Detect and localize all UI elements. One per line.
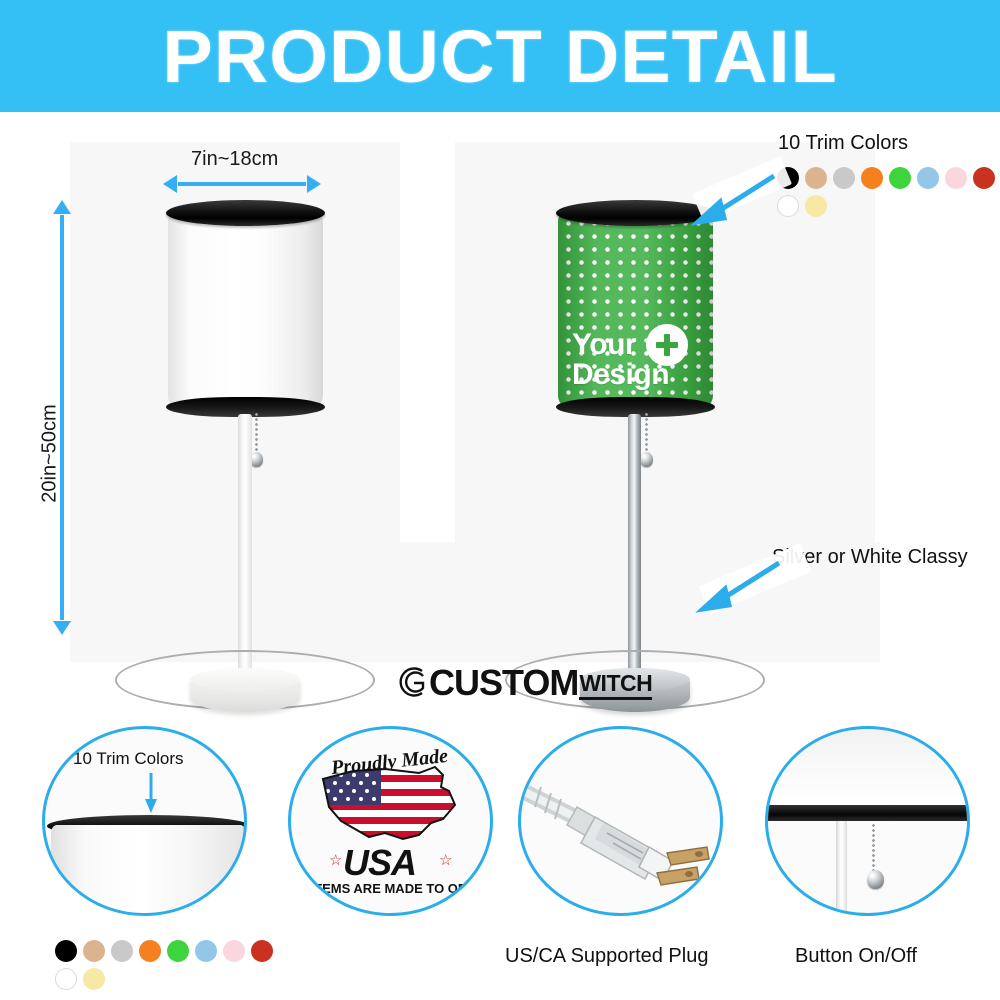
trim-color-swatch-light-blue[interactable] bbox=[917, 167, 939, 189]
bottom-trim-color-swatch-white[interactable] bbox=[55, 968, 77, 990]
usa-big-text: USA bbox=[343, 842, 416, 884]
feature-switch-shade bbox=[765, 729, 970, 807]
feature-trim-colors: 10 Trim Colors bbox=[42, 726, 247, 916]
feature-trim-colors-down-arrow-icon bbox=[143, 773, 159, 818]
product-stage: 7in~18cm 20in~50cm bbox=[0, 112, 1000, 712]
bottom-trim-color-swatch-orange[interactable] bbox=[139, 940, 161, 962]
feature-switch-pull-chain[interactable] bbox=[872, 823, 875, 873]
brand-name-sub: WITCH bbox=[579, 672, 652, 700]
add-design-plus-icon[interactable] bbox=[646, 324, 688, 366]
trim-colors-title: 10 Trim Colors bbox=[778, 132, 908, 155]
feature-switch-chain-ball[interactable] bbox=[867, 870, 884, 889]
feature-plug-caption: US/CA Supported Plug bbox=[505, 945, 708, 968]
us-plug-icon bbox=[521, 729, 723, 916]
bottom-trim-color-swatch-light-blue[interactable] bbox=[195, 940, 217, 962]
feature-trim-colors-shade bbox=[51, 825, 246, 916]
trim-color-swatch-green[interactable] bbox=[889, 167, 911, 189]
lamp-white-trim-top bbox=[166, 200, 324, 226]
trim-colors-pointer-arrow-icon bbox=[690, 170, 780, 226]
trim-color-swatch-yellow[interactable] bbox=[805, 195, 827, 217]
height-measure-arrow bbox=[60, 215, 64, 620]
lamp-green-chain-ball[interactable] bbox=[640, 452, 653, 467]
usa-map-flag-icon bbox=[315, 761, 475, 847]
lamp-white-pull-chain[interactable] bbox=[255, 412, 258, 454]
usa-star-right-icon: ☆ bbox=[439, 851, 452, 869]
trim-color-swatch-white[interactable] bbox=[777, 195, 799, 217]
brand-name-main: CUSTOM bbox=[429, 666, 578, 700]
usa-badge: Proudly Made in the bbox=[291, 729, 490, 913]
lamp-green-shade-surface: Your Design bbox=[558, 212, 713, 405]
lamp-white-base-top bbox=[190, 668, 300, 691]
bottom-trim-color-swatch-pink[interactable] bbox=[223, 940, 245, 962]
bottom-trim-color-swatch-black[interactable] bbox=[55, 940, 77, 962]
feature-switch-pole bbox=[836, 821, 847, 916]
lamp-green-pull-chain[interactable] bbox=[645, 412, 648, 454]
feature-made-in-usa: Proudly Made in the bbox=[288, 726, 493, 916]
trim-colors-swatch-grid[interactable] bbox=[777, 167, 1000, 217]
trim-color-swatch-orange[interactable] bbox=[861, 167, 883, 189]
bottom-trim-color-swatch-red[interactable] bbox=[251, 940, 273, 962]
trim-color-swatch-silver[interactable] bbox=[833, 167, 855, 189]
width-measure-label: 7in~18cm bbox=[191, 148, 278, 171]
feature-trim-colors-title: 10 Trim Colors bbox=[73, 749, 184, 769]
height-measure-label: 20in~50cm bbox=[39, 394, 62, 514]
trim-color-swatch-red[interactable] bbox=[973, 167, 995, 189]
bottom-trim-swatch-grid[interactable] bbox=[55, 940, 285, 990]
bottom-trim-color-swatch-tan[interactable] bbox=[83, 940, 105, 962]
lamp-white bbox=[130, 200, 360, 660]
feature-switch bbox=[765, 726, 970, 916]
lamp-white-shade bbox=[168, 200, 323, 415]
feature-switch-trim-band bbox=[765, 805, 970, 821]
usa-star-left-icon: ☆ bbox=[329, 851, 342, 869]
page-title: PRODUCT DETAIL bbox=[162, 14, 837, 99]
bottom-trim-color-swatch-green[interactable] bbox=[167, 940, 189, 962]
base-finish-pointer-arrow-icon bbox=[695, 557, 785, 613]
trim-color-swatch-tan[interactable] bbox=[805, 167, 827, 189]
header-banner: PRODUCT DETAIL bbox=[0, 0, 1000, 112]
bottom-trim-color-swatch-silver[interactable] bbox=[111, 940, 133, 962]
feature-switch-caption: Button On/Off bbox=[795, 945, 917, 968]
brand-logo: CUSTOM WITCH bbox=[392, 664, 652, 700]
usa-tagline: ALL ITEMS ARE MADE TO ORDER! bbox=[288, 881, 493, 896]
trim-color-swatch-pink[interactable] bbox=[945, 167, 967, 189]
product-detail-page: PRODUCT DETAIL 7in~18cm 20in~50cm bbox=[0, 0, 1000, 1000]
lamp-white-shade-surface bbox=[168, 212, 323, 405]
design-line-2: Design bbox=[572, 360, 669, 390]
lamp-white-base bbox=[190, 668, 300, 712]
feature-plug bbox=[518, 726, 723, 916]
lamp-green-shade[interactable]: Your Design bbox=[558, 200, 713, 415]
bottom-trim-color-swatch-yellow[interactable] bbox=[83, 968, 105, 990]
brand-c-icon bbox=[392, 664, 428, 700]
width-measure-arrow bbox=[178, 182, 306, 186]
